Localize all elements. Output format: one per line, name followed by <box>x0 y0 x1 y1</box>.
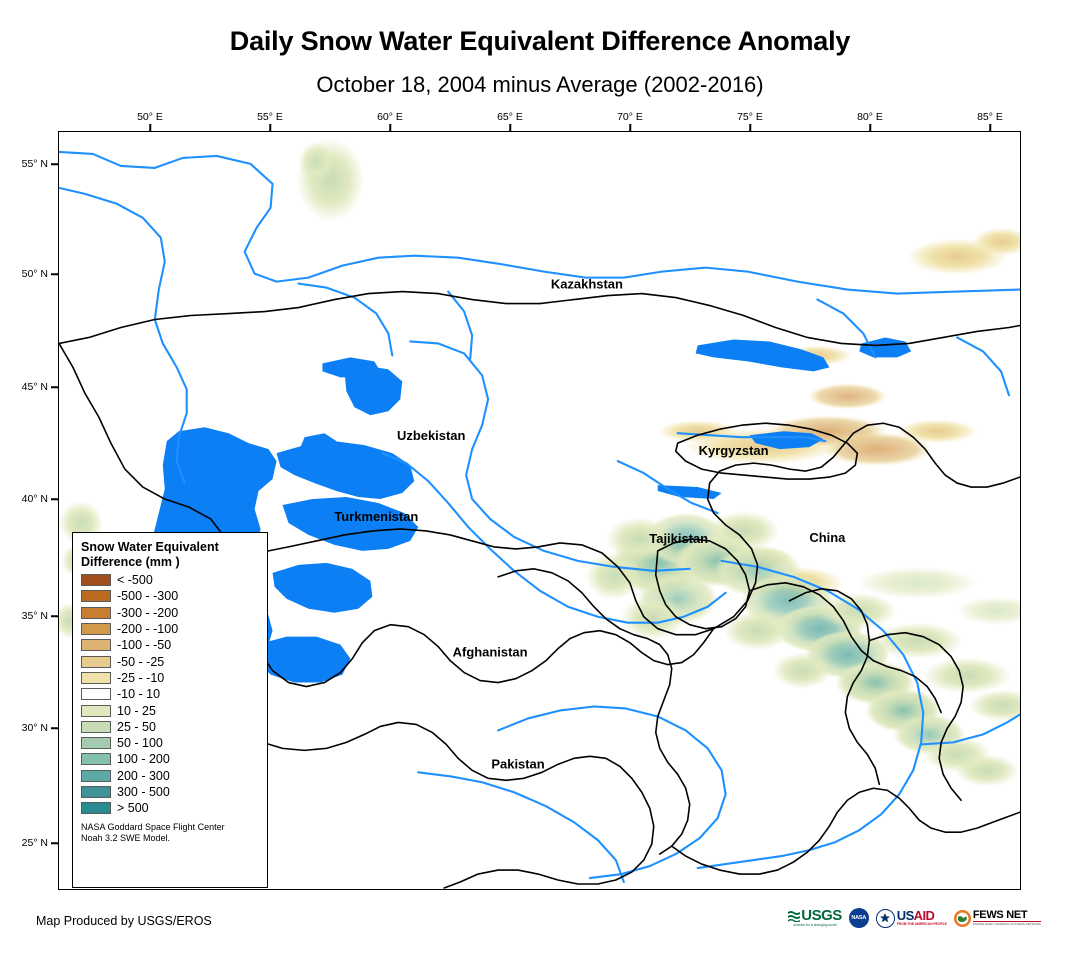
legend-entry: -25 - -10 <box>81 670 259 686</box>
legend-label: 10 - 25 <box>117 705 156 717</box>
lon-tick-label: 55° E <box>257 111 283 123</box>
usgs-tagline: science for a changing world <box>794 924 837 927</box>
usaid-logo[interactable]: USAID FROM THE AMERICAN PEOPLE <box>876 907 947 929</box>
logo-bar: USGS science for a changing world NASA U… <box>788 906 1041 930</box>
lake-balkhash <box>696 339 830 371</box>
lat-tick-mark <box>51 163 58 165</box>
legend-swatch <box>81 623 111 635</box>
legend-label: -500 - -300 <box>117 590 178 602</box>
legend-swatch <box>81 705 111 717</box>
border-kazakhstan-russia <box>59 292 1020 346</box>
lat-tick-label: 55° N <box>14 158 48 170</box>
legend-title-line2: Difference (mm ) <box>81 555 259 570</box>
lon-tick-label: 60° E <box>377 111 403 123</box>
fews-globe-icon <box>954 910 971 927</box>
legend-entry: 200 - 300 <box>81 768 259 784</box>
lon-tick-mark <box>989 124 991 131</box>
border-turkmenistan-south <box>245 722 632 780</box>
fews-tagline: FAMINE EARLY WARNING SYSTEMS NETWORK <box>973 923 1041 926</box>
lat-tick-mark <box>51 842 58 844</box>
legend-entry-list: < -500-500 - -300-300 - -200-200 - -100-… <box>81 572 259 816</box>
river-tobol <box>299 284 393 356</box>
river-irtysh-east <box>957 337 1009 395</box>
river-ural <box>59 188 187 483</box>
lon-tick-label: 85° E <box>977 111 1003 123</box>
legend-swatch <box>81 786 111 798</box>
legend-entry: > 500 <box>81 800 259 816</box>
legend-label: 200 - 300 <box>117 770 170 782</box>
lon-tick-mark <box>869 124 871 131</box>
legend-label: -300 - -200 <box>117 607 178 619</box>
usgs-wave-icon <box>788 910 801 922</box>
legend-label: < -500 <box>117 574 153 586</box>
legend-label: -200 - -100 <box>117 623 178 635</box>
legend-label: -50 - -25 <box>117 656 164 668</box>
legend-entry: -300 - -200 <box>81 605 259 621</box>
country-label-kazakhstan: Kazakhstan <box>551 277 623 292</box>
caspian-sea-north <box>277 441 415 499</box>
legend-entry: < -500 <box>81 572 259 588</box>
country-label-tajikistan: Tajikistan <box>649 531 708 546</box>
legend-entry: -100 - -50 <box>81 637 259 653</box>
lon-tick-label: 80° E <box>857 111 883 123</box>
legend-entry: -50 - -25 <box>81 653 259 669</box>
usgs-logo[interactable]: USGS science for a changing world <box>788 907 842 929</box>
usaid-tagline: FROM THE AMERICAN PEOPLE <box>897 923 947 926</box>
legend-swatch <box>81 639 111 651</box>
legend-swatch <box>81 753 111 765</box>
caspian-sea-south <box>273 563 373 613</box>
page-title: Daily Snow Water Equivalent Difference A… <box>0 26 1080 57</box>
legend-entry: -500 - -300 <box>81 588 259 604</box>
lon-tick-mark <box>269 124 271 131</box>
legend-title: Snow Water Equivalent Difference (mm ) <box>81 540 259 569</box>
legend-entry: 50 - 100 <box>81 735 259 751</box>
legend-source-note: NASA Goddard Space Flight Center Noah 3.… <box>81 822 259 844</box>
aral-sea-lobe <box>322 357 380 377</box>
lon-tick-mark <box>509 124 511 131</box>
lat-tick-mark <box>51 498 58 500</box>
lon-tick-label: 70° E <box>617 111 643 123</box>
fews-wordmark: FEWS NET <box>973 910 1041 923</box>
legend-source-line1: NASA Goddard Space Flight Center <box>81 822 259 833</box>
lon-tick-mark <box>389 124 391 131</box>
lat-tick-label: 25° N <box>14 837 48 849</box>
page-subtitle: October 18, 2004 minus Average (2002-201… <box>0 72 1080 98</box>
legend-swatch <box>81 770 111 782</box>
lat-tick-label: 30° N <box>14 722 48 734</box>
legend-entry: -10 - 10 <box>81 686 259 702</box>
legend-label: -10 - 10 <box>117 688 160 700</box>
legend-swatch <box>81 672 111 684</box>
legend-swatch <box>81 802 111 814</box>
river-indus-upper <box>498 706 726 878</box>
nasa-wordmark: NASA <box>851 915 866 921</box>
country-label-kyrgyzstan: Kyrgyzstan <box>699 443 769 458</box>
legend-swatch <box>81 590 111 602</box>
country-label-afghanistan: Afghanistan <box>453 645 528 660</box>
lat-tick-label: 40° N <box>14 493 48 505</box>
river-south <box>418 772 624 882</box>
border-afghanistan-south <box>444 778 654 888</box>
legend-swatch <box>81 737 111 749</box>
lon-tick-mark <box>749 124 751 131</box>
lon-tick-label: 75° E <box>737 111 763 123</box>
lon-tick-mark <box>149 124 151 131</box>
fews-net-logo[interactable]: FEWS NET FAMINE EARLY WARNING SYSTEMS NE… <box>954 907 1041 929</box>
country-label-pakistan: Pakistan <box>491 756 544 771</box>
nasa-logo[interactable]: NASA <box>849 907 869 929</box>
lat-tick-mark <box>51 273 58 275</box>
legend-swatch <box>81 721 111 733</box>
legend-label: -25 - -10 <box>117 672 164 684</box>
legend-label: 25 - 50 <box>117 721 156 733</box>
lat-tick-label: 50° N <box>14 268 48 280</box>
aydar-lake <box>658 485 722 499</box>
legend-title-line1: Snow Water Equivalent <box>81 540 259 555</box>
lat-tick-label: 35° N <box>14 610 48 622</box>
legend-label: 100 - 200 <box>117 753 170 765</box>
legend-label: -100 - -50 <box>117 639 171 651</box>
legend-swatch <box>81 607 111 619</box>
lon-tick-label: 65° E <box>497 111 523 123</box>
lat-tick-label: 45° N <box>14 381 48 393</box>
legend-entry: 300 - 500 <box>81 784 259 800</box>
lon-tick-label: 50° E <box>137 111 163 123</box>
country-label-turkmenistan: Turkmenistan <box>334 509 418 524</box>
legend-swatch <box>81 656 111 668</box>
lat-tick-mark <box>51 386 58 388</box>
legend-entry: 100 - 200 <box>81 751 259 767</box>
lat-tick-mark <box>51 727 58 729</box>
legend-entry: -200 - -100 <box>81 621 259 637</box>
legend-label: 300 - 500 <box>117 786 170 798</box>
legend-swatch <box>81 688 111 700</box>
river-north <box>59 152 1020 294</box>
legend-label: > 500 <box>117 802 149 814</box>
usaid-seal-icon <box>876 909 895 928</box>
map-legend: Snow Water Equivalent Difference (mm ) <… <box>72 532 268 888</box>
lon-tick-mark <box>629 124 631 131</box>
country-label-uzbekistan: Uzbekistan <box>397 428 465 443</box>
legend-source-line2: Noah 3.2 SWE Model. <box>81 833 259 844</box>
country-label-china: China <box>809 530 846 545</box>
legend-entry: 25 - 50 <box>81 719 259 735</box>
footer-credit: Map Produced by USGS/EROS <box>36 914 212 928</box>
legend-label: 50 - 100 <box>117 737 163 749</box>
usgs-wordmark: USGS <box>801 908 842 923</box>
legend-entry: 10 - 25 <box>81 702 259 718</box>
legend-swatch <box>81 574 111 586</box>
lat-tick-mark <box>51 615 58 617</box>
